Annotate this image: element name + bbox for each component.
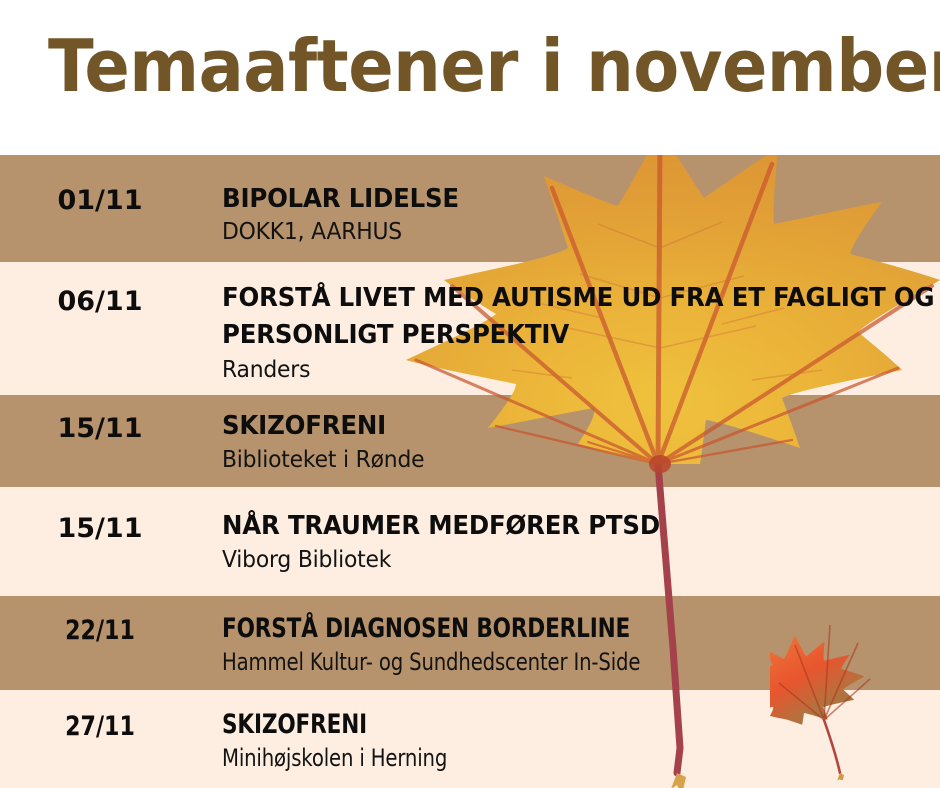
stripe-row-1 [0,155,940,262]
stripe-row-6 [0,690,940,788]
poster-header: Temaaftener i november [0,0,940,155]
poster: Temaaftener i november 01/11 BIPOLAR LID… [0,0,940,788]
page-title: Temaaftener i november [48,24,940,108]
stripe-row-4 [0,487,940,596]
stripe-row-3 [0,395,940,487]
stripe-row-5 [0,596,940,690]
stripe-row-2 [0,262,940,395]
